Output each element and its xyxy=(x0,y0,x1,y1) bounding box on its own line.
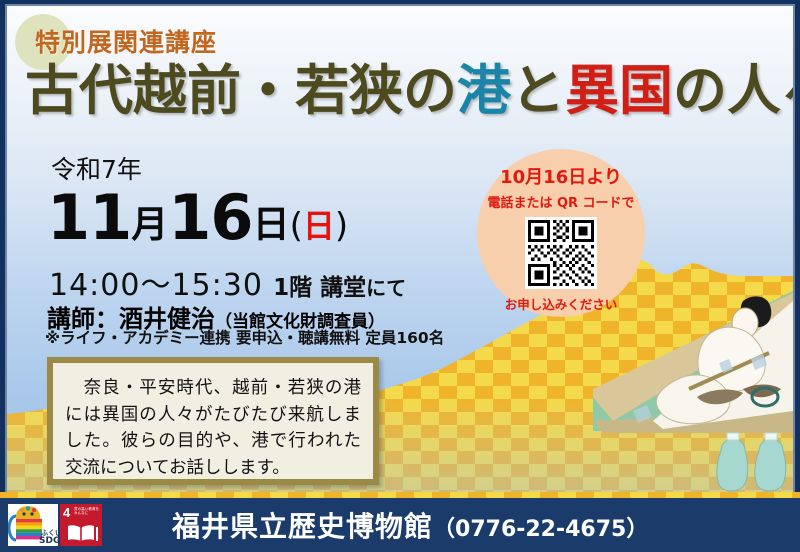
date-day-number: 16 xyxy=(168,181,252,254)
sdg-goal-number: 4 xyxy=(63,506,70,519)
qr-code-icon[interactable] xyxy=(525,217,597,289)
event-note: ※ライフ・アカデミー連携 要申込・聴講無料 定員160名 xyxy=(45,326,444,348)
kicker-label: 特別展関連講座 xyxy=(35,23,217,59)
title-part-1: 古代越前・若狭の xyxy=(25,58,457,122)
title-part-to: と xyxy=(511,58,565,122)
date-day-unit: 日 xyxy=(253,203,290,246)
date-month-unit: 月 xyxy=(131,203,168,246)
time-range: 14:00〜15:30 xyxy=(49,268,263,303)
sdg-logo-group: ふくい SDGs 4 質の高い教育をみんなに xyxy=(8,504,102,546)
svg-text:SDGs: SDGs xyxy=(39,536,58,546)
registration-headline: 10月16日より xyxy=(500,163,622,189)
event-time-venue: 14:00〜15:30 1階 講堂にて xyxy=(49,260,406,304)
poster-root: 特別展関連講座 古代越前・若狭の港と異国の人々 令和7年 11月16日(日) 1… xyxy=(0,0,800,552)
paren-open: ( xyxy=(290,206,303,246)
qr-code-svg xyxy=(528,220,594,286)
sdg-goal-4-icon: 4 質の高い教育をみんなに xyxy=(60,504,102,546)
museum-credit: 福井県立歴史博物館（0776-22-4675） xyxy=(172,505,648,545)
title-part-minato: 港 xyxy=(457,58,511,122)
poster-frame: 特別展関連講座 古代越前・若狭の港と異国の人々 令和7年 11月16日(日) 1… xyxy=(5,4,795,552)
historical-painting-illustration xyxy=(593,271,793,501)
title-part-ikoku: 異国 xyxy=(565,58,673,122)
gold-divider xyxy=(0,492,800,498)
weekday-label: 日 xyxy=(303,207,335,245)
description-box: 奈良・平安時代、越前・若狭の港には異国の人々がたびたび来航しました。彼らの目的や… xyxy=(47,357,379,485)
registration-circle: 10月16日より 電話または QR コードで xyxy=(477,149,645,317)
fukui-sdgs-logo-icon: ふくい SDGs xyxy=(8,504,58,546)
date-month-number: 11 xyxy=(47,181,131,254)
fukui-sdgs-svg: ふくい SDGs xyxy=(8,504,58,546)
museum-name: 福井県立歴史博物館 xyxy=(172,510,433,543)
sdg-goal-caption: 質の高い教育をみんなに xyxy=(74,507,100,515)
venue-suffix: にて xyxy=(366,276,406,300)
paren-close: ) xyxy=(335,206,348,246)
registration-subline: 電話または QR コードで xyxy=(487,192,634,211)
description-text: 奈良・平安時代、越前・若狭の港には異国の人々がたびたび来航しました。彼らの目的や… xyxy=(65,375,361,481)
venue-floor: 1階 講堂 xyxy=(273,275,366,301)
title-part-hitobito: の人々 xyxy=(673,58,795,122)
book-icon xyxy=(60,522,102,544)
footer-bar: ふくい SDGs 4 質の高い教育をみんなに 福井県立歴史博物館（0776-22… xyxy=(0,498,800,552)
page-title: 古代越前・若狭の港と異国の人々 xyxy=(25,63,785,117)
museum-phone: （0776-22-4675） xyxy=(433,517,648,542)
registration-footline: お申し込みください xyxy=(505,294,618,313)
painting-svg xyxy=(593,271,793,501)
event-date: 11月16日(日) xyxy=(47,181,348,254)
